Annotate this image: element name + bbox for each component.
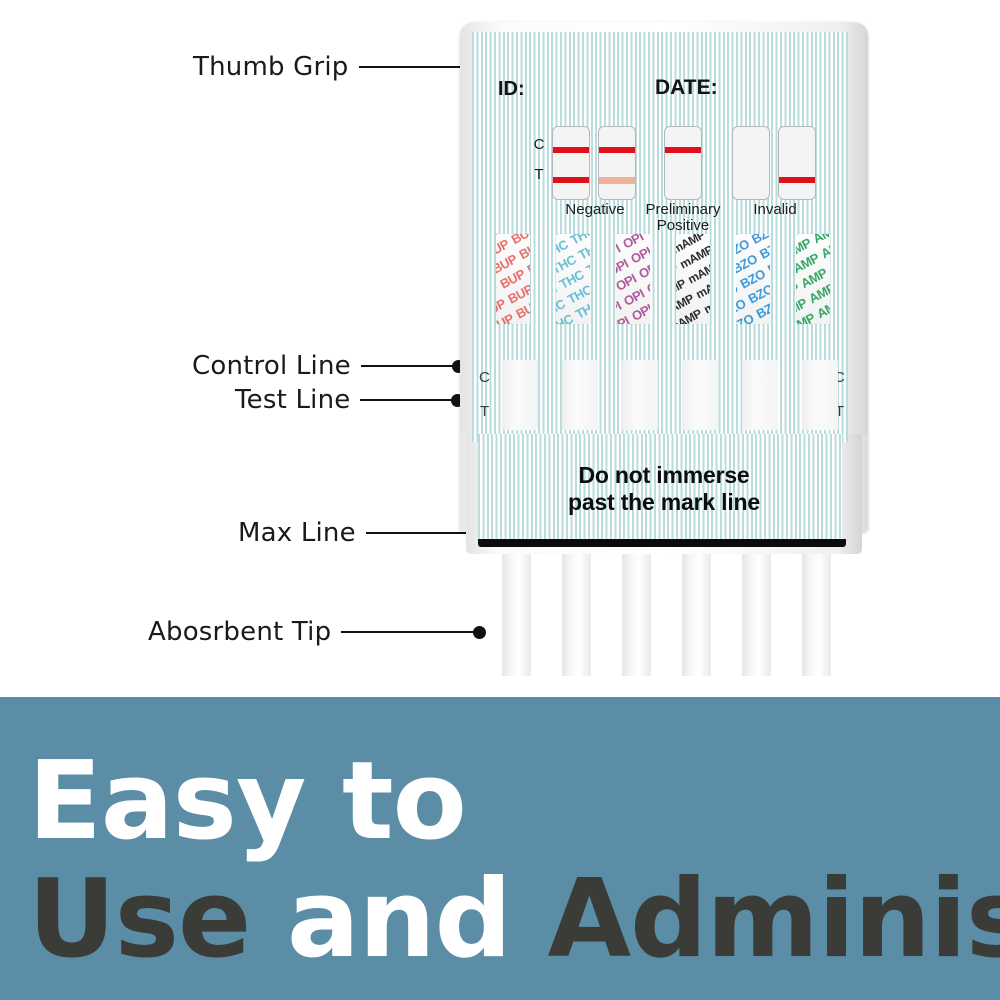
absorbent-tip-3 — [622, 536, 651, 676]
max-immersion-line — [478, 539, 846, 547]
banner-word-administer: Administer — [548, 857, 1000, 982]
callout-absorbent-tip: Abosrbent Tip — [148, 617, 486, 647]
legend-test-letter: T — [530, 166, 548, 183]
callout-leader-line — [360, 399, 452, 401]
absorbent-tip-4 — [682, 536, 711, 676]
illustration-panel: Thumb Grip Control Line Test Line Max Li… — [0, 0, 1000, 697]
test-band-faint — [599, 177, 635, 184]
drug-label-text: mAMP mAMP mAMP mAMP mAMP mAMP mAMP mAMP … — [676, 234, 710, 324]
control-line-mark-left: C — [479, 369, 490, 386]
control-band — [665, 147, 701, 153]
callout-max-line-label: Max Line — [238, 518, 356, 548]
callout-thumb-grip: Thumb Grip — [193, 52, 483, 82]
result-interpretation-legend: C T Negative PreliminaryPositive In — [530, 120, 840, 218]
control-band — [553, 147, 589, 153]
drug-label-opi: OPI OPI OPI OPI OPI OPI OPI OPI OPI OPI … — [616, 234, 650, 324]
callout-control-line: Control Line — [192, 351, 465, 381]
legend-caption-invalid: Invalid — [720, 202, 830, 218]
callout-anchor-dot — [473, 626, 486, 639]
drug-label-text: OPI OPI OPI OPI OPI OPI OPI OPI OPI OPI … — [616, 234, 650, 324]
drug-label-mamp: mAMP mAMP mAMP mAMP mAMP mAMP mAMP mAMP … — [676, 234, 710, 324]
drug-label-thc: THC THC THC THC THC THC THC THC THC THC … — [556, 234, 590, 324]
absorbent-tip-1 — [502, 536, 531, 676]
callout-test-line-label: Test Line — [235, 385, 350, 415]
drug-label-text: AMP AMP AMP AMP AMP AMP AMP AMP AMP AMP … — [796, 234, 830, 324]
legend-window-negative-1 — [552, 126, 590, 200]
banner-headline-line-2: Use and Administer — [28, 857, 1000, 982]
callout-absorbent-tip-label: Abosrbent Tip — [148, 617, 331, 647]
callout-leader-line — [366, 532, 478, 534]
reaction-window-1 — [502, 360, 538, 430]
promo-banner: Easy to Use and Administer — [0, 697, 1000, 1000]
drug-test-card: ID: DATE: C T Negative PreliminaryPositi… — [460, 22, 868, 532]
reaction-window-4 — [682, 360, 718, 430]
control-band — [599, 147, 635, 153]
callout-control-line-label: Control Line — [192, 351, 351, 381]
warning-line-1: Do not immerse — [578, 462, 749, 488]
drug-label-bup: BUP BUP BUP BUP BUP BUP BUP BUP BUP BUP … — [496, 234, 530, 324]
callout-leader-line — [341, 631, 474, 633]
banner-headline-line-1: Easy to — [28, 739, 466, 864]
warning-line-2: past the mark line — [568, 489, 760, 515]
drug-label-text: THC THC THC THC THC THC THC THC THC THC … — [556, 234, 590, 324]
drug-label-amp: AMP AMP AMP AMP AMP AMP AMP AMP AMP AMP … — [796, 234, 830, 324]
legend-window-preliminary-positive — [664, 126, 702, 200]
legend-caption-preliminary-positive: PreliminaryPositive — [634, 202, 732, 234]
callout-leader-line — [359, 66, 471, 68]
id-field-label: ID: — [498, 78, 525, 101]
drug-label-bzo: BZO BZO BZO BZO BZO BZO BZO BZO BZO BZO … — [736, 234, 770, 324]
callout-thumb-grip-label: Thumb Grip — [193, 52, 349, 82]
legend-window-invalid-1 — [732, 126, 770, 200]
banner-word-use: Use — [28, 857, 250, 982]
drug-label-text: BZO BZO BZO BZO BZO BZO BZO BZO BZO BZO … — [736, 234, 770, 324]
legend-window-negative-2 — [598, 126, 636, 200]
date-field-label: DATE: — [655, 76, 718, 100]
test-band — [553, 177, 589, 183]
absorbent-tip-6 — [802, 536, 831, 676]
reaction-window-6 — [802, 360, 838, 430]
callout-test-line: Test Line — [235, 385, 464, 415]
reaction-window-2 — [562, 360, 598, 430]
immersion-warning-text: Do not immerse past the mark line — [460, 462, 868, 516]
banner-word-and: and — [287, 857, 511, 982]
absorbent-tip-2 — [562, 536, 591, 676]
reaction-window-5 — [742, 360, 778, 430]
test-band — [779, 177, 815, 183]
callout-leader-line — [361, 365, 453, 367]
drug-label-text: BUP BUP BUP BUP BUP BUP BUP BUP BUP BUP … — [496, 234, 530, 324]
reaction-window-3 — [622, 360, 658, 430]
legend-control-letter: C — [530, 136, 548, 153]
callout-max-line: Max Line — [238, 518, 490, 548]
absorbent-tip-5 — [742, 536, 771, 676]
legend-window-invalid-2 — [778, 126, 816, 200]
test-line-mark-left: T — [480, 403, 489, 420]
